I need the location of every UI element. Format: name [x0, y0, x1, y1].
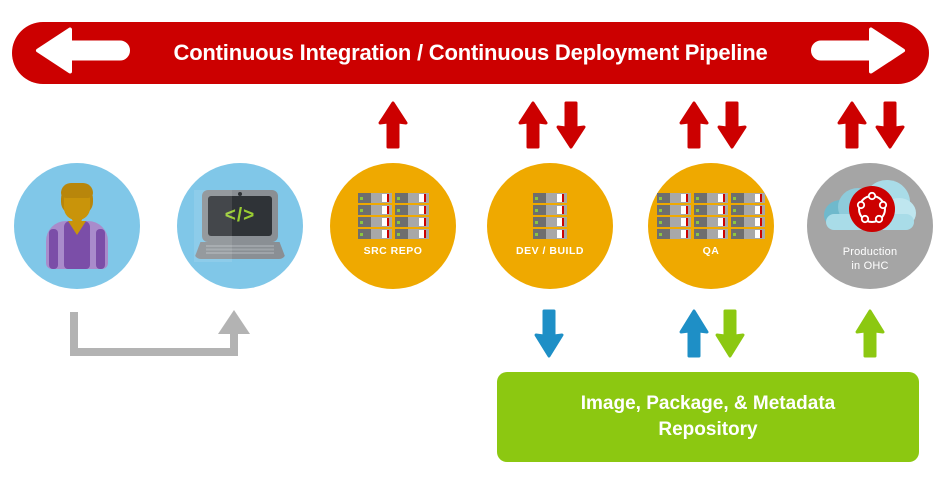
node-workstation[interactable]: </>	[177, 163, 303, 289]
cicd-pipeline-diagram: Continuous Integration / Continuous Depl…	[0, 0, 941, 500]
repository-label-line1: Image, Package, & Metadata	[581, 393, 836, 414]
repository-label-line2: Repository	[658, 419, 757, 440]
server-rack-icon	[533, 193, 567, 239]
person-icon	[40, 183, 114, 269]
arrow-up-dev-build	[518, 101, 548, 154]
node-label-qa: QA	[703, 245, 720, 258]
node-label-production-line2: in OHC	[851, 260, 888, 272]
node-label-production-line1: Production	[843, 246, 898, 258]
server-rack-icon	[358, 193, 429, 239]
arrow-down-dev-build-to-repo	[534, 308, 564, 363]
arrow-up-qa-to-repo	[679, 308, 709, 363]
node-src-repo[interactable]: SRC REPO	[330, 163, 456, 289]
arrow-down-repo-to-qa	[715, 308, 745, 363]
repository-box[interactable]: Image, Package, & Metadata Repository	[497, 372, 919, 462]
arrow-up-repo-to-production	[855, 308, 885, 363]
openshift-logo-icon	[849, 186, 895, 232]
node-dev-build[interactable]: DEV / BUILD	[487, 163, 613, 289]
node-label-dev-build: DEV / BUILD	[516, 245, 584, 258]
server-rack-icon	[657, 193, 765, 239]
arrow-down-production	[875, 101, 905, 154]
cloud-openshift-icon	[822, 178, 918, 240]
page-title: Continuous Integration / Continuous Depl…	[174, 40, 768, 66]
node-production[interactable]: Production in OHC	[807, 163, 933, 289]
arrow-up-src-repo	[378, 101, 408, 154]
node-developer[interactable]	[14, 163, 140, 289]
developer-to-workstation-loop	[68, 308, 258, 368]
arrow-down-dev-build	[556, 101, 586, 154]
node-label-production: Production in OHC	[843, 246, 898, 274]
arrow-up-qa	[679, 101, 709, 154]
laptop-code-icon: </>	[194, 190, 286, 262]
arrow-down-qa	[717, 101, 747, 154]
repository-label: Image, Package, & Metadata Repository	[581, 391, 836, 442]
node-qa[interactable]: QA	[648, 163, 774, 289]
arrow-left-icon	[34, 28, 130, 79]
node-label-src-repo: SRC REPO	[364, 245, 423, 258]
pipeline-banner: Continuous Integration / Continuous Depl…	[12, 22, 929, 84]
arrow-up-production	[837, 101, 867, 154]
arrow-right-icon	[811, 28, 907, 79]
